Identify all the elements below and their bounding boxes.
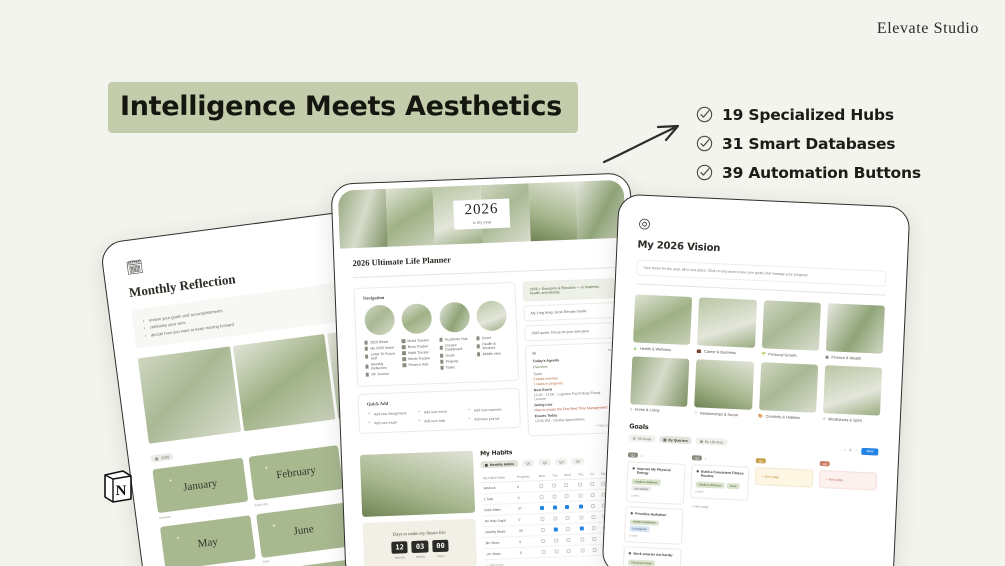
checkbox[interactable] bbox=[592, 525, 596, 529]
habit-checkbox-cell[interactable] bbox=[588, 478, 599, 489]
vision-image bbox=[759, 362, 818, 413]
vision-label: 🎨Creativity & Hobbies bbox=[758, 413, 815, 421]
gallery-image bbox=[233, 334, 336, 431]
habit-checkbox-cell[interactable] bbox=[591, 544, 602, 555]
habit-checkbox-cell[interactable] bbox=[578, 534, 591, 545]
checkbox[interactable] bbox=[567, 548, 571, 552]
nav-thumbnail bbox=[476, 300, 507, 331]
page-icon bbox=[402, 340, 405, 343]
feature-label: 39 Automation Buttons bbox=[722, 164, 921, 182]
heart-icon: ♡ bbox=[694, 410, 698, 415]
nav-link-label: Book Tracker bbox=[408, 344, 429, 349]
tab-all-goals[interactable]: ☰All Goals bbox=[629, 434, 656, 442]
nav-link-label: Mood Tracker bbox=[407, 338, 429, 343]
page-icon bbox=[439, 346, 442, 349]
goal-card-placeholder[interactable]: + New page bbox=[819, 470, 878, 491]
goal-tag: Health & Wellness bbox=[696, 481, 725, 488]
vision-image bbox=[633, 294, 692, 345]
habit-checkbox-cell[interactable] bbox=[552, 535, 565, 546]
checkbox[interactable] bbox=[591, 481, 595, 485]
leaf-icon: 🍃 bbox=[633, 345, 638, 350]
kanban-column-header: Q4 bbox=[820, 461, 878, 469]
habit-checkbox-cell[interactable] bbox=[563, 501, 577, 513]
cover-year: 2026 bbox=[464, 202, 499, 218]
habit-checkbox-cell[interactable] bbox=[539, 524, 553, 536]
checkbox[interactable] bbox=[554, 538, 558, 542]
nav-link-label: DF Journal bbox=[371, 372, 388, 377]
cover-tile bbox=[528, 181, 578, 241]
nav-link-label: Health & Workout bbox=[482, 341, 509, 350]
countdown-label: Weeks bbox=[412, 554, 429, 559]
database-tag[interactable]: ▦ 2026 bbox=[151, 453, 174, 463]
vision-label-text: Health & Wellness bbox=[640, 346, 671, 351]
quick-add-button[interactable]: ＋Add new expense bbox=[467, 406, 511, 413]
countdown-value: 12 bbox=[391, 541, 408, 554]
habit-checkbox-cell[interactable] bbox=[564, 512, 578, 524]
month-cell[interactable]: ✦February February bbox=[248, 445, 344, 507]
checkbox[interactable] bbox=[540, 505, 544, 509]
feature-label: 19 Specialized Hubs bbox=[722, 106, 894, 124]
page-heading: 2026 Ultimate Life Planner bbox=[352, 248, 614, 268]
habit-progress-cell: 0 bbox=[516, 514, 538, 526]
kanban-column: Q2 1 ❋Build a Consistent Fitness Routine… bbox=[686, 455, 749, 566]
page-icon bbox=[477, 353, 480, 356]
nav-link[interactable]: Event bbox=[476, 335, 508, 340]
nav-link[interactable]: Creator Dashboard bbox=[439, 343, 472, 352]
chip-label: Q3 bbox=[559, 460, 564, 464]
checkbox[interactable] bbox=[540, 516, 544, 520]
new-goal-button[interactable]: New bbox=[861, 447, 878, 455]
quick-add-button[interactable]: ＋Add new Assignment bbox=[367, 410, 411, 417]
column-header[interactable]: Wed bbox=[562, 470, 576, 480]
nav-link[interactable]: Habit Tracker bbox=[402, 350, 434, 355]
nav-link-label: Event bbox=[482, 336, 491, 340]
page-icon bbox=[402, 352, 405, 355]
countdown-digits: 12 Months 03 Weeks 00 Days bbox=[369, 539, 471, 561]
view-chip[interactable]: ▦Monthly Habits bbox=[481, 460, 519, 468]
checkbox[interactable] bbox=[580, 526, 584, 530]
checkbox[interactable] bbox=[542, 549, 546, 553]
nav-link[interactable]: Finance Hub bbox=[403, 362, 435, 367]
quarter-badge: Q2 bbox=[692, 455, 702, 460]
habit-checkbox-cell[interactable] bbox=[577, 512, 590, 523]
habit-checkbox-cell[interactable] bbox=[589, 500, 600, 511]
countdown-unit: 00 Days bbox=[432, 540, 449, 559]
column-header[interactable]: Fri bbox=[588, 469, 599, 479]
feature-item: 19 Specialized Hubs bbox=[696, 100, 921, 129]
nav-link-label: Finance Hub bbox=[408, 362, 428, 367]
goal-card[interactable]: ❋Prioritize Hydration Health & Wellness … bbox=[624, 506, 684, 545]
quick-add-button[interactable]: ＋Add new event bbox=[417, 408, 461, 415]
habit-progress-cell: 0 bbox=[517, 536, 539, 548]
vision-label: 💼Career & Business bbox=[697, 348, 754, 356]
habit-checkbox-cell[interactable] bbox=[539, 535, 553, 547]
goal-tag: Health & Wellness bbox=[630, 519, 659, 526]
goal-title: ❋Work smarter not harder bbox=[628, 552, 676, 558]
checkbox[interactable] bbox=[554, 527, 558, 531]
notion-logo: N bbox=[102, 468, 134, 504]
tablet-screen: ◎ My 2026 Vision Your vision for the yea… bbox=[609, 201, 903, 566]
checkbox[interactable] bbox=[591, 492, 595, 496]
page-caption: Your vision for the year, all in one pla… bbox=[636, 259, 886, 286]
quick-add-button[interactable]: ＋Add new exam bbox=[368, 419, 412, 426]
nav-link-label: Letter To Future Self bbox=[371, 351, 398, 360]
vision-collage-image bbox=[360, 451, 476, 517]
page-icon bbox=[440, 354, 443, 357]
habit-checkbox-cell[interactable] bbox=[564, 523, 578, 535]
quick-add-label: Add new journal bbox=[474, 416, 499, 421]
goal-title: ❋Build a Consistent Fitness Routine bbox=[696, 469, 744, 479]
checkbox[interactable] bbox=[565, 504, 569, 508]
checkbox[interactable] bbox=[565, 482, 569, 486]
goal-status-tag: In progress bbox=[629, 526, 649, 532]
goal-card-placeholder[interactable]: + New page bbox=[755, 467, 814, 488]
goal-card[interactable]: ❋Work smarter not harder Personal Growth bbox=[623, 546, 682, 566]
agenda-line: 11:00 - 13:00 · Logistics Psychology Ess… bbox=[534, 390, 613, 401]
quick-add-panel: Quick Add ＋Add new Assignment ＋Add new e… bbox=[358, 388, 522, 434]
more-icon[interactable]: ⋯ bbox=[855, 449, 859, 453]
vision-label-text: Home & Living bbox=[635, 408, 660, 413]
vision-board-grid: 🍃Health & Wellness 💼Career & Business 🌱P… bbox=[630, 294, 885, 423]
tab-by-life-area[interactable]: ▦By Life Area bbox=[696, 437, 728, 445]
sprout-icon: 🌱 bbox=[761, 351, 766, 356]
filter-icon[interactable]: ⇅ bbox=[849, 448, 852, 452]
vision-label: 🍃Health & Wellness bbox=[633, 345, 690, 353]
countdown-value: 03 bbox=[412, 540, 429, 553]
nav-link[interactable]: 2026 Reset bbox=[364, 339, 396, 344]
quarter-badge: Q4 bbox=[820, 461, 830, 466]
goal-view-tabs: ☰All Goals ▤By Quarters ▦By Life Area bbox=[629, 434, 728, 445]
month-cell[interactable]: ✦May May bbox=[160, 515, 256, 566]
habit-name-cell: 10+ Steps bbox=[484, 547, 518, 559]
new-page-button[interactable]: + New page bbox=[824, 475, 872, 485]
goal-title: ❋Prioritize Hydration bbox=[630, 511, 678, 517]
side-note: 2026 = Execution & Elevation — in busine… bbox=[523, 278, 616, 302]
search-icon[interactable]: ⌕ bbox=[844, 448, 846, 452]
nav-column: Mood Tracker Book Tracker Habit Tracker … bbox=[400, 303, 435, 377]
habit-checkbox-cell[interactable] bbox=[550, 480, 563, 491]
habit-checkbox-cell[interactable] bbox=[553, 546, 566, 557]
leaf-icon: ❋ bbox=[632, 466, 635, 474]
nav-column: 2026 Reset My 2026 Vision Letter To Futu… bbox=[363, 304, 398, 378]
feature-item: 39 Automation Buttons bbox=[696, 158, 921, 187]
page-icon bbox=[403, 364, 406, 367]
page-cover: 2026 is my year bbox=[338, 180, 626, 249]
new-page-button[interactable]: + New page bbox=[535, 423, 614, 430]
checkbox[interactable] bbox=[592, 514, 596, 518]
promo-canvas: Elevate Studio Intelligence Meets Aesthe… bbox=[0, 0, 1005, 566]
habit-checkbox-cell[interactable] bbox=[565, 534, 579, 546]
month-cell[interactable]: ✦January January bbox=[152, 458, 248, 520]
vision-image bbox=[826, 303, 885, 354]
nav-link[interactable]: Movie Tracker bbox=[402, 356, 434, 361]
countdown-widget: Days to make my dream life: 12 Months 03… bbox=[362, 519, 477, 566]
vision-label: 🌱Personal Growth bbox=[761, 351, 818, 359]
countdown-unit: 12 Months bbox=[391, 541, 408, 560]
habit-checkbox-cell[interactable] bbox=[539, 546, 553, 558]
column-header[interactable]: Tue bbox=[550, 470, 563, 480]
habit-checkbox-cell[interactable] bbox=[590, 522, 601, 533]
agenda-icon: ▤ bbox=[532, 351, 535, 355]
nav-link-label: Habit Tracker bbox=[408, 350, 429, 355]
vision-label-text: Career & Business bbox=[704, 349, 736, 354]
sparkle-icon: ✦ bbox=[264, 466, 269, 472]
quick-add-button[interactable]: ＋Add new journal bbox=[468, 415, 512, 422]
vision-image bbox=[823, 365, 882, 416]
sparkle-icon: ✧ bbox=[822, 416, 825, 421]
page-icon bbox=[365, 347, 368, 350]
nav-link[interactable]: Goals bbox=[440, 353, 472, 358]
nav-link[interactable]: Tasks bbox=[440, 365, 472, 370]
view-chip[interactable]: Q3 bbox=[555, 458, 568, 465]
checkbox[interactable] bbox=[539, 494, 543, 498]
month-card-label: January bbox=[182, 477, 217, 493]
cover-subtitle: is my year bbox=[465, 219, 499, 225]
nav-link[interactable]: DF Journal bbox=[366, 371, 398, 376]
view-chip[interactable]: Q2 bbox=[539, 459, 552, 466]
column-header[interactable]: Mon bbox=[537, 471, 551, 481]
chip-label: Q1 bbox=[526, 461, 531, 465]
vision-label: ♡Relationships & Social bbox=[694, 410, 751, 418]
page-icon bbox=[440, 360, 443, 363]
vision-card[interactable]: ✧Mindfulness & Spirit bbox=[822, 365, 882, 424]
habit-checkbox-cell[interactable] bbox=[591, 533, 602, 544]
goal-tag: Health & Wellness bbox=[632, 478, 661, 485]
list-icon: ☰ bbox=[633, 436, 636, 440]
panel-heading: Quick Add bbox=[367, 396, 511, 407]
checkbox[interactable] bbox=[567, 537, 571, 541]
circle-check-icon bbox=[696, 135, 713, 152]
checkbox[interactable] bbox=[579, 504, 583, 508]
vision-card[interactable]: ▩Finance & Wealth bbox=[825, 303, 885, 362]
habit-checkbox-cell[interactable] bbox=[565, 545, 579, 557]
new-page-button[interactable]: + New page bbox=[689, 502, 747, 513]
page-icon bbox=[476, 337, 479, 340]
nav-link-label: Tasks bbox=[446, 365, 455, 369]
checkbox[interactable] bbox=[580, 537, 584, 541]
checkbox[interactable] bbox=[552, 483, 556, 487]
goal-card[interactable]: ❋Improve My Physical Energy Health & Wel… bbox=[626, 461, 686, 504]
plus-icon: ＋ bbox=[468, 417, 472, 422]
checkbox[interactable] bbox=[553, 494, 557, 498]
nav-link[interactable]: Book Tracker bbox=[402, 344, 434, 349]
habit-checkbox-cell[interactable] bbox=[551, 502, 564, 513]
view-chip[interactable]: Q1 bbox=[522, 459, 535, 466]
goal-card[interactable]: ❋Build a Consistent Fitness Routine Heal… bbox=[690, 464, 749, 500]
circle-check-icon bbox=[696, 106, 713, 123]
goal-status-tag: Done bbox=[727, 483, 740, 489]
habit-checkbox-cell[interactable] bbox=[538, 502, 552, 514]
habit-checkbox-cell[interactable] bbox=[589, 489, 600, 500]
page-icon bbox=[365, 365, 368, 368]
habit-progress-cell: 28 bbox=[517, 525, 539, 537]
plus-icon: ＋ bbox=[417, 410, 421, 415]
checkbox[interactable] bbox=[593, 547, 597, 551]
goal-title-text: Build a Consistent Fitness Routine bbox=[701, 470, 744, 480]
nav-link[interactable]: My 2026 Vision bbox=[365, 345, 397, 350]
sparkle-icon: ✦ bbox=[272, 523, 277, 529]
countdown-label: Months bbox=[392, 555, 409, 560]
tablet-mockup-vision: ◎ My 2026 Vision Your vision for the yea… bbox=[602, 194, 911, 566]
nav-link-label: Goals bbox=[445, 353, 454, 357]
nav-link-label: Projects bbox=[446, 359, 459, 363]
brain-icon: ❋ bbox=[628, 552, 631, 556]
quick-add-button[interactable]: ＋Add new task bbox=[418, 417, 462, 424]
goal-meta: 0 sites bbox=[695, 489, 743, 495]
vision-image bbox=[761, 300, 820, 351]
habit-checkbox-cell[interactable] bbox=[551, 513, 564, 524]
habit-checkbox-cell[interactable] bbox=[562, 479, 576, 491]
agenda-subheading: Overview bbox=[533, 362, 612, 369]
nav-link[interactable]: Mood Tracker bbox=[402, 338, 434, 343]
nav-link-label: Academic Hub bbox=[445, 337, 468, 342]
goal-title-text: Prioritize Hydration bbox=[635, 511, 666, 516]
checkbox[interactable] bbox=[539, 483, 543, 487]
kanban-column-header: Q2 1 bbox=[692, 455, 750, 463]
home-icon: ⌂ bbox=[630, 407, 632, 411]
checkbox[interactable] bbox=[601, 481, 605, 485]
month-card-label: February bbox=[276, 464, 317, 481]
column-header[interactable]: Thu bbox=[576, 469, 589, 479]
checkbox[interactable] bbox=[566, 526, 570, 530]
vision-image bbox=[694, 359, 753, 410]
plus-icon: ＋ bbox=[467, 408, 471, 413]
page-icon bbox=[365, 355, 368, 358]
month-cell[interactable]: ✦June June bbox=[256, 502, 352, 564]
vision-card[interactable]: 🌱Personal Growth bbox=[761, 300, 821, 359]
nav-column: Academic Hub Creator Dashboard Goals Pro… bbox=[438, 302, 473, 376]
tablet-mockup-life-planner: 2026 is my year 2026 Ultimate Life Plann… bbox=[330, 172, 645, 566]
agenda-card: ▤ ✎ Today's Agenda Overview Tasks 2 task… bbox=[525, 342, 621, 436]
quarter-badge: Q1 bbox=[628, 452, 638, 457]
checkbox[interactable] bbox=[565, 493, 569, 497]
kanban-column: Q4 + New page bbox=[814, 461, 877, 566]
goal-tag: Personal Growth bbox=[628, 560, 655, 566]
checkbox[interactable] bbox=[553, 505, 557, 509]
quick-add-label: Add new Assignment bbox=[374, 411, 407, 416]
goals-kanban-board: Q1 3 ❋Improve My Physical Energy Health … bbox=[623, 452, 878, 566]
nav-link[interactable]: Monthly Reflection bbox=[365, 361, 398, 370]
new-page-button[interactable]: + New page bbox=[760, 472, 808, 482]
cover-tile bbox=[385, 187, 435, 247]
nav-link[interactable]: Health & Workout bbox=[477, 341, 510, 350]
quick-add-label: Add new expense bbox=[474, 407, 502, 412]
nav-thumbnail bbox=[364, 305, 395, 336]
tab-by-quarters[interactable]: ▤By Quarters bbox=[659, 436, 692, 444]
plus-icon: ＋ bbox=[367, 412, 371, 417]
habit-checkbox-cell[interactable] bbox=[578, 523, 591, 534]
habit-checkbox-cell[interactable] bbox=[579, 545, 592, 556]
habit-checkbox-cell[interactable] bbox=[577, 501, 590, 512]
divider bbox=[353, 267, 615, 278]
coins-icon: ▩ bbox=[825, 354, 829, 359]
page-icon bbox=[402, 358, 405, 361]
tablet-screen: 2026 is my year 2026 Ultimate Life Plann… bbox=[338, 180, 639, 566]
habit-checkbox-cell[interactable] bbox=[563, 490, 577, 502]
divider bbox=[636, 283, 886, 295]
checkbox[interactable] bbox=[593, 536, 597, 540]
habit-progress-cell: 57 bbox=[516, 503, 538, 515]
month-card-label: June bbox=[293, 523, 315, 538]
page-title: Intelligence Meets Aesthetics bbox=[120, 91, 562, 122]
side-note: 2026 quote: Focus on your own pace bbox=[524, 322, 617, 342]
nav-link[interactable]: Letter To Future Self bbox=[365, 351, 398, 360]
count-label: 3 bbox=[641, 453, 643, 457]
checkbox[interactable] bbox=[579, 493, 583, 497]
sparkle-icon: ✦ bbox=[176, 535, 181, 541]
count-label: 1 bbox=[705, 456, 707, 460]
headline-badge: Intelligence Meets Aesthetics bbox=[108, 82, 578, 133]
countdown-unit: 03 Weeks bbox=[412, 540, 429, 559]
checkbox[interactable] bbox=[566, 515, 570, 519]
nav-link[interactable]: Projects bbox=[440, 359, 472, 364]
notion-page-vision: ◎ My 2026 Vision Your vision for the yea… bbox=[609, 201, 903, 566]
vision-card[interactable]: 💼Career & Business bbox=[697, 297, 757, 356]
checkbox[interactable] bbox=[579, 515, 583, 519]
tab-label: All Goals bbox=[638, 436, 652, 441]
habit-checkbox-cell[interactable] bbox=[551, 491, 564, 502]
checkbox[interactable] bbox=[581, 548, 585, 552]
habit-checkbox-cell[interactable] bbox=[537, 480, 551, 492]
checkbox[interactable] bbox=[554, 516, 558, 520]
habit-checkbox-cell[interactable] bbox=[537, 491, 551, 503]
habit-checkbox-cell[interactable] bbox=[590, 511, 601, 522]
checkbox[interactable] bbox=[555, 549, 559, 553]
nav-link-label: Movie Tracker bbox=[408, 356, 430, 361]
nav-column: Event Health & Workout Mobile view bbox=[475, 300, 510, 374]
quick-add-grid: ＋Add new Assignment ＋Add new event ＋Add … bbox=[367, 406, 512, 426]
habit-checkbox-cell[interactable] bbox=[576, 479, 589, 490]
habit-checkbox-cell[interactable] bbox=[576, 490, 589, 501]
view-chip[interactable]: Q4 bbox=[572, 457, 585, 464]
nav-link-label: Monthly Reflection bbox=[371, 361, 398, 370]
vision-card[interactable]: ⌂Home & Living bbox=[630, 356, 690, 415]
tab-label: By Life Area bbox=[705, 439, 723, 444]
vision-label: ✧Mindfulness & Spirit bbox=[822, 416, 879, 424]
checkbox[interactable] bbox=[541, 527, 545, 531]
goal-status-tag: Not started bbox=[631, 485, 651, 491]
feature-label: 31 Smart Databases bbox=[722, 135, 895, 153]
page-icon bbox=[439, 338, 442, 341]
grid-icon: ▦ bbox=[155, 456, 159, 460]
grid-icon: ▦ bbox=[700, 439, 703, 443]
habit-checkbox-cell[interactable] bbox=[552, 524, 565, 535]
droplet-icon: ❋ bbox=[630, 511, 633, 515]
habit-progress-cell: 0 bbox=[516, 492, 538, 504]
feature-checklist: 19 Specialized Hubs 31 Smart Databases 3… bbox=[696, 100, 921, 187]
vision-label-text: Finance & Wealth bbox=[831, 355, 861, 360]
notion-page-life-planner: 2026 Ultimate Life Planner Navigation 20… bbox=[340, 238, 638, 566]
habit-checkbox-cell[interactable] bbox=[538, 513, 552, 525]
vision-label-text: Relationships & Social bbox=[700, 411, 738, 417]
checkbox[interactable] bbox=[591, 503, 595, 507]
nav-link[interactable]: Academic Hub bbox=[439, 337, 471, 342]
checkbox[interactable] bbox=[541, 538, 545, 542]
nav-link[interactable]: Mobile view bbox=[477, 351, 509, 356]
panel-heading: Navigation bbox=[363, 290, 507, 301]
vision-card[interactable]: 🎨Creativity & Hobbies bbox=[758, 362, 818, 421]
countdown-label: Days bbox=[433, 554, 450, 559]
page-icon bbox=[402, 346, 405, 349]
countdown-title: Days to make my dream life: bbox=[369, 529, 470, 538]
checkbox[interactable] bbox=[578, 482, 582, 486]
vision-card[interactable]: ♡Relationships & Social bbox=[694, 359, 754, 418]
vision-card[interactable]: 🍃Health & Wellness bbox=[633, 294, 693, 353]
target-icon: ◎ bbox=[638, 216, 888, 241]
quick-add-label: Add new exam bbox=[374, 420, 397, 425]
kanban-column: Q1 3 ❋Improve My Physical Energy Health … bbox=[623, 452, 686, 566]
goal-title-text: Improve My Physical Energy bbox=[637, 467, 680, 477]
